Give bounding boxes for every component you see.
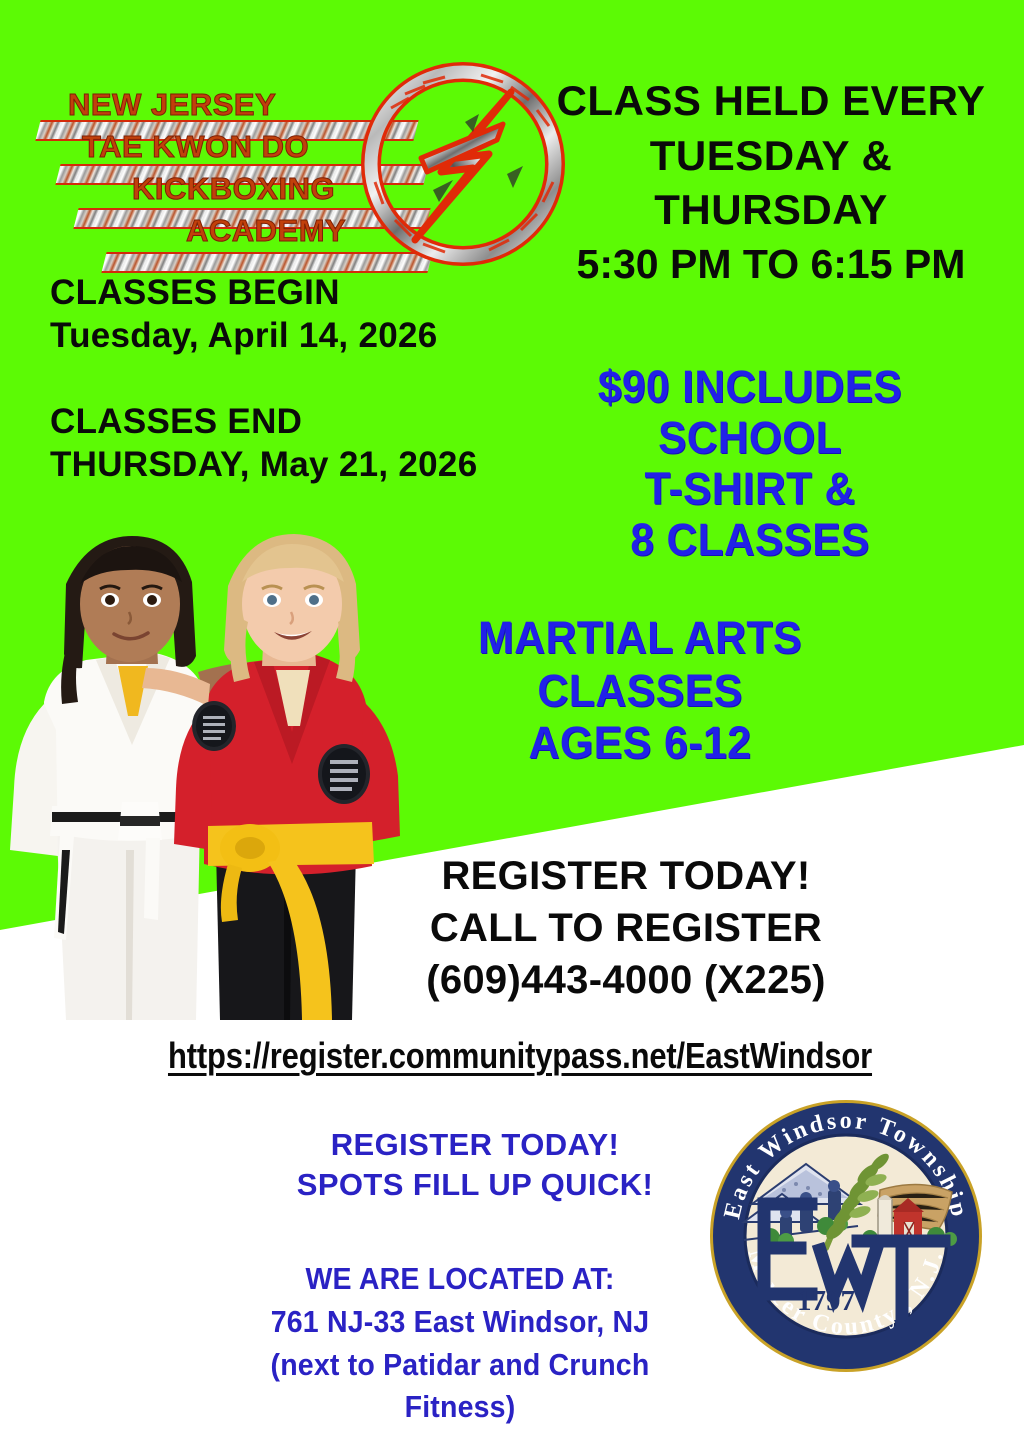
price-line-4: 8 CLASSES (515, 515, 985, 566)
logo-line-new-jersey: NEW JERSEY (46, 84, 376, 126)
promo-ages: AGES 6-12 (412, 717, 868, 770)
logo-line-kickboxing: KICKBOXING (46, 168, 376, 210)
location-street: 761 NJ-33 East Windsor, NJ (221, 1301, 699, 1344)
location-note: (next to Patidar and Crunch Fitness) (221, 1344, 699, 1430)
bottom-cta-block: REGISTER TODAY! SPOTS FILL UP QUICK! (240, 1125, 710, 1206)
headline-line-3: THURSDAY (540, 183, 1002, 238)
flyer-page: NEW JERSEY TAE KWON DO KICKBOXING ACADEM… (0, 0, 1024, 1449)
classes-begin-date: Tuesday, April 14, 2026 (50, 315, 590, 358)
cta-spots-fill-up: SPOTS FILL UP QUICK! (240, 1165, 710, 1205)
promo-martial-arts: MARTIAL ARTS (412, 612, 868, 665)
east-windsor-township-seal: East Windsor Township Mercer County , N.… (708, 1098, 984, 1374)
headline-line-2: TUESDAY & (540, 129, 1002, 184)
logo-line-academy: ACADEMY (46, 210, 376, 252)
registration-url[interactable]: https://register.communitypass.net/EastW… (124, 1035, 915, 1077)
price-line-1: $90 INCLUDES (515, 362, 985, 413)
classes-end-group: CLASSES END THURSDAY, May 21, 2026 (50, 401, 590, 486)
price-line-2: SCHOOL (515, 413, 985, 464)
price-line-3: T-SHIRT & (515, 464, 985, 515)
classes-begin-label: CLASSES BEGIN (50, 272, 590, 315)
academy-wordmark: NEW JERSEY TAE KWON DO KICKBOXING ACADEM… (46, 84, 376, 252)
register-call-block: REGISTER TODAY! CALL TO REGISTER (609)44… (356, 850, 896, 1006)
price-promo: $90 INCLUDES SCHOOL T-SHIRT & 8 CLASSES (515, 362, 985, 565)
academy-emblem-icon (361, 62, 566, 267)
phone-number[interactable]: (609)443-4000 (X225) (356, 954, 896, 1006)
location-label: WE ARE LOCATED AT: (221, 1258, 699, 1301)
call-to-register-label: CALL TO REGISTER (356, 902, 896, 954)
promo-classes: CLASSES (412, 665, 868, 718)
classes-begin-group: CLASSES BEGIN Tuesday, April 14, 2026 (50, 272, 590, 357)
logo-line-tae-kwon-do: TAE KWON DO (46, 126, 376, 168)
classes-age-promo: MARTIAL ARTS CLASSES AGES 6-12 (412, 612, 868, 770)
cta-register-today: REGISTER TODAY! (240, 1125, 710, 1165)
seal-year: 1797 (797, 1285, 855, 1317)
session-dates: CLASSES BEGIN Tuesday, April 14, 2026 CL… (50, 272, 590, 487)
classes-end-date: THURSDAY, May 21, 2026 (50, 444, 590, 487)
classes-end-label: CLASSES END (50, 401, 590, 444)
register-today-heading: REGISTER TODAY! (356, 850, 896, 902)
headline-line-1: CLASS HELD EVERY (540, 74, 1002, 129)
class-schedule-headline: CLASS HELD EVERY TUESDAY & THURSDAY 5:30… (540, 74, 1002, 291)
location-block: WE ARE LOCATED AT: 761 NJ-33 East Windso… (221, 1258, 699, 1429)
academy-logo: NEW JERSEY TAE KWON DO KICKBOXING ACADEM… (46, 62, 566, 272)
class-time: 5:30 PM TO 6:15 PM (540, 238, 1002, 291)
students-photo (0, 520, 400, 1020)
